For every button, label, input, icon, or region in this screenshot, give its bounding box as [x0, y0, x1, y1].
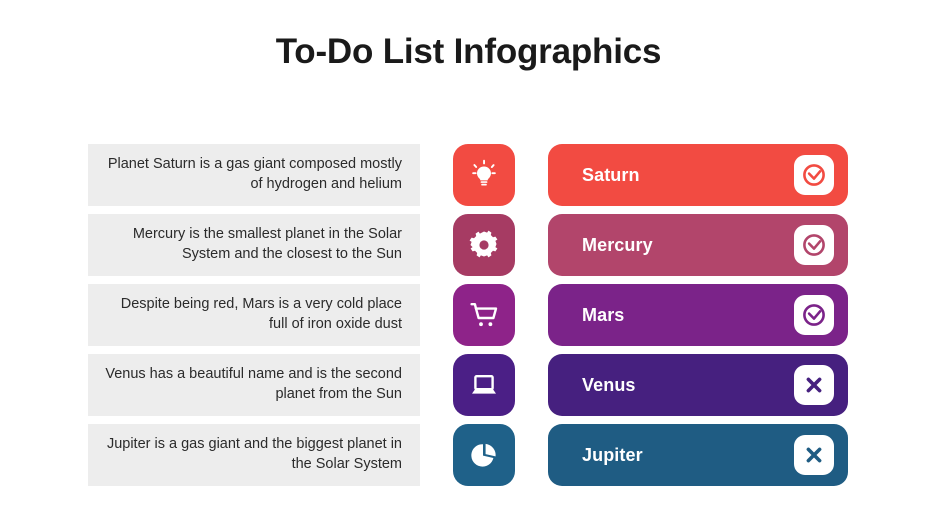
list-item: Venus has a beautiful name and is the se…	[0, 354, 937, 416]
task-bar-mars[interactable]: Mars	[548, 284, 848, 346]
description-text: Despite being red, Mars is a very cold p…	[102, 295, 402, 334]
list-item: Jupiter is a gas giant and the biggest p…	[0, 424, 937, 486]
check-icon[interactable]	[794, 295, 834, 335]
todo-list: Planet Saturn is a gas giant composed mo…	[0, 144, 937, 494]
close-icon[interactable]	[794, 365, 834, 405]
icon-tile-mars[interactable]	[453, 284, 515, 346]
list-item: Planet Saturn is a gas giant composed mo…	[0, 144, 937, 206]
description-text: Jupiter is a gas giant and the biggest p…	[102, 435, 402, 474]
task-bar-mercury[interactable]: Mercury	[548, 214, 848, 276]
task-bar-jupiter[interactable]: Jupiter	[548, 424, 848, 486]
icon-tile-mercury[interactable]	[453, 214, 515, 276]
description-text: Planet Saturn is a gas giant composed mo…	[102, 155, 402, 194]
description-text: Mercury is the smallest planet in the So…	[102, 225, 402, 264]
description-panel: Despite being red, Mars is a very cold p…	[88, 284, 420, 346]
slide-canvas: To-Do List Infographics Planet Saturn is…	[0, 0, 937, 527]
task-label: Venus	[582, 375, 794, 396]
list-item: Despite being red, Mars is a very cold p…	[0, 284, 937, 346]
task-label: Jupiter	[582, 445, 794, 466]
description-panel: Venus has a beautiful name and is the se…	[88, 354, 420, 416]
check-icon[interactable]	[794, 155, 834, 195]
description-panel: Planet Saturn is a gas giant composed mo…	[88, 144, 420, 206]
shopping-cart-icon	[468, 299, 500, 331]
task-bar-saturn[interactable]: Saturn	[548, 144, 848, 206]
task-label: Saturn	[582, 165, 794, 186]
lightbulb-icon	[468, 159, 500, 191]
laptop-icon	[468, 369, 500, 401]
check-icon[interactable]	[794, 225, 834, 265]
close-icon[interactable]	[794, 435, 834, 475]
description-panel: Mercury is the smallest planet in the So…	[88, 214, 420, 276]
task-bar-venus[interactable]: Venus	[548, 354, 848, 416]
pie-chart-icon	[468, 439, 500, 471]
task-label: Mercury	[582, 235, 794, 256]
description-text: Venus has a beautiful name and is the se…	[102, 365, 402, 404]
description-panel: Jupiter is a gas giant and the biggest p…	[88, 424, 420, 486]
icon-tile-jupiter[interactable]	[453, 424, 515, 486]
list-item: Mercury is the smallest planet in the So…	[0, 214, 937, 276]
gear-icon	[468, 229, 500, 261]
icon-tile-venus[interactable]	[453, 354, 515, 416]
icon-tile-saturn[interactable]	[453, 144, 515, 206]
task-label: Mars	[582, 305, 794, 326]
page-title: To-Do List Infographics	[0, 32, 937, 72]
